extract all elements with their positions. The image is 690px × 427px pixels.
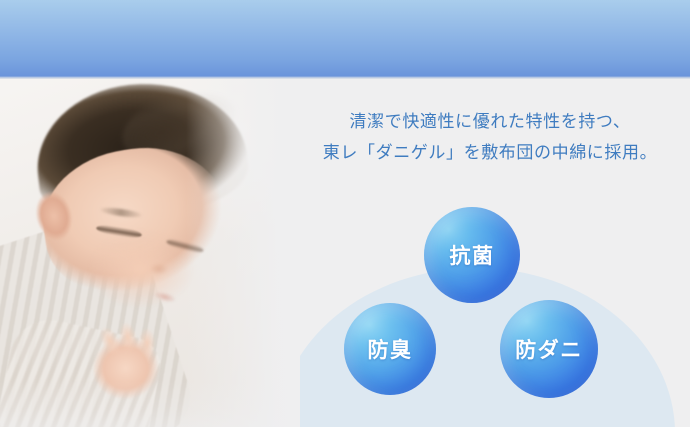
lead-line-1: 清潔で快適性に優れた特性を持つ、: [290, 106, 690, 137]
lead-line-2: 東レ「ダニゲル」を敷布団の中綿に採用。: [290, 137, 690, 168]
photo-bottom-fade: [0, 381, 300, 427]
promo-banner: 清潔で快適な中綿を使用 清潔で快適性に優れた特性を持つ、 東レ「ダニゲル: [0, 0, 690, 427]
feature-bubble-anti-mite: 防ダニ: [500, 300, 598, 398]
header-divider: [0, 76, 690, 79]
header-band: [0, 0, 690, 76]
photo-right-fade: [0, 79, 300, 427]
feature-bubble-deodorant: 防臭: [344, 303, 436, 395]
lead-paragraph: 清潔で快適性に優れた特性を持つ、 東レ「ダニゲル」を敷布団の中綿に採用。: [290, 106, 690, 168]
baby-photo: [0, 79, 300, 427]
feature-bubble-antibacterial: 抗菌: [424, 207, 520, 303]
